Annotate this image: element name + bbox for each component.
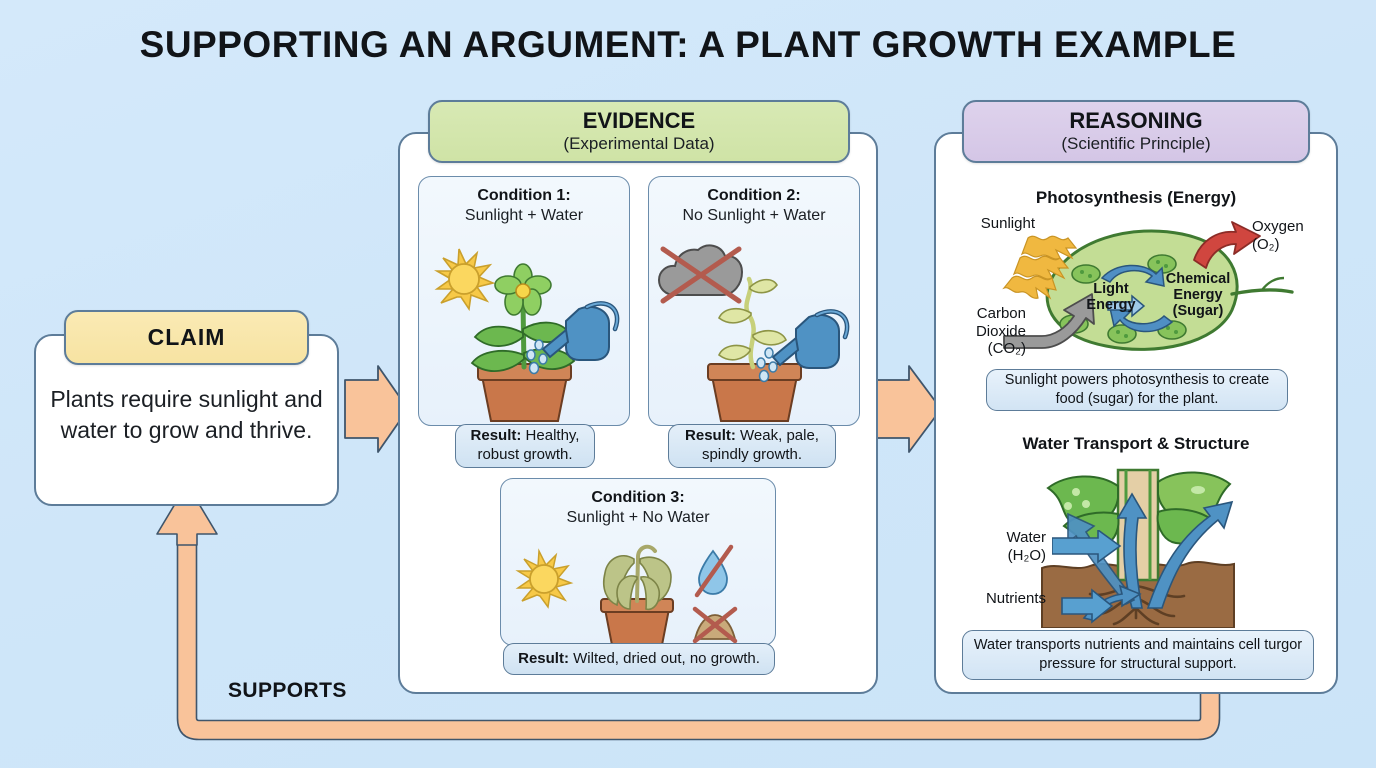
- chemical-energy-label: Chemical Energy (Sugar): [1156, 271, 1240, 320]
- condition-2-result-label: Result:: [685, 427, 740, 444]
- condition-2-result: Result: Weak, pale, spindly growth.: [668, 424, 836, 468]
- condition-card-2[interactable]: Condition 2: No Sunlight + Water: [648, 176, 860, 426]
- flower-pot-icon: [478, 364, 571, 421]
- no-water-drop-icon: [697, 547, 731, 595]
- condition-3-illustration: [501, 533, 777, 645]
- condition-2-title: Condition 2:: [649, 186, 859, 206]
- claim-header: CLAIM: [64, 310, 309, 365]
- reasoning-header: REASONING (Scientific Principle): [962, 100, 1310, 163]
- condition-card-1[interactable]: Condition 1: Sunlight + Water: [418, 176, 630, 426]
- reasoning-subheader-label: (Scientific Principle): [1061, 134, 1210, 154]
- water-transport-title: Water Transport & Structure: [934, 434, 1338, 454]
- condition-1-illustration: [419, 229, 631, 424]
- condition-1-subtitle: Sunlight + Water: [419, 207, 629, 225]
- sunlight-label: Sunlight: [950, 215, 1035, 233]
- evidence-header: EVIDENCE (Experimental Data): [428, 100, 850, 163]
- condition-2-illustration: [649, 229, 861, 424]
- condition-3-result-label: Result:: [518, 650, 573, 667]
- no-sun-cloud-icon: [659, 245, 742, 301]
- condition-3-subtitle: Sunlight + No Water: [501, 509, 775, 527]
- no-soil-moisture-icon: [695, 609, 735, 641]
- flower-icon: [495, 264, 551, 315]
- arrow-evidence-to-reasoning: [876, 366, 941, 452]
- condition-2-subtitle: No Sunlight + Water: [649, 207, 859, 225]
- sun-icon: [437, 249, 493, 309]
- water-transport-input-arrows: [1052, 530, 1132, 640]
- reasoning-header-label: REASONING: [1069, 109, 1202, 134]
- nutrients-label: Nutrients: [950, 590, 1046, 608]
- light-energy-label: Light Energy: [1078, 281, 1144, 313]
- flower-pot-icon: [708, 364, 801, 421]
- claim-text: Plants require sunlight and water to gro…: [40, 384, 333, 446]
- water-label: Water (H₂O): [960, 529, 1046, 564]
- condition-1-result-label: Result:: [471, 427, 526, 444]
- supports-label: SUPPORTS: [228, 679, 347, 703]
- co2-label: Carbon Dioxide (CO₂): [944, 305, 1026, 358]
- condition-3-result: Result: Wilted, dried out, no growth.: [503, 643, 775, 675]
- evidence-header-label: EVIDENCE: [583, 109, 695, 134]
- evidence-subheader-label: (Experimental Data): [563, 134, 714, 154]
- oxygen-label: Oxygen (O₂): [1252, 218, 1332, 253]
- condition-1-result: Result: Healthy, robust growth.: [455, 424, 595, 468]
- claim-header-label: CLAIM: [148, 325, 226, 351]
- photosynthesis-title: Photosynthesis (Energy): [934, 188, 1338, 208]
- sun-icon: [518, 551, 571, 607]
- condition-3-title: Condition 3:: [501, 488, 775, 508]
- flower-pot-icon: [601, 599, 673, 645]
- nutrients-input-arrow: [1062, 590, 1112, 622]
- condition-card-3[interactable]: Condition 3: Sunlight + No Water: [500, 478, 776, 646]
- water-input-arrow: [1052, 530, 1120, 562]
- photosynthesis-note: Sunlight powers photosynthesis to create…: [986, 369, 1288, 411]
- water-transport-note: Water transports nutrients and maintains…: [962, 630, 1314, 680]
- condition-3-result-text: Wilted, dried out, no growth.: [573, 650, 760, 667]
- wilted-plant-icon: [604, 547, 671, 610]
- diagram-canvas: SUPPORTING AN ARGUMENT: A PLANT GROWTH E…: [0, 0, 1376, 768]
- condition-1-title: Condition 1:: [419, 186, 629, 206]
